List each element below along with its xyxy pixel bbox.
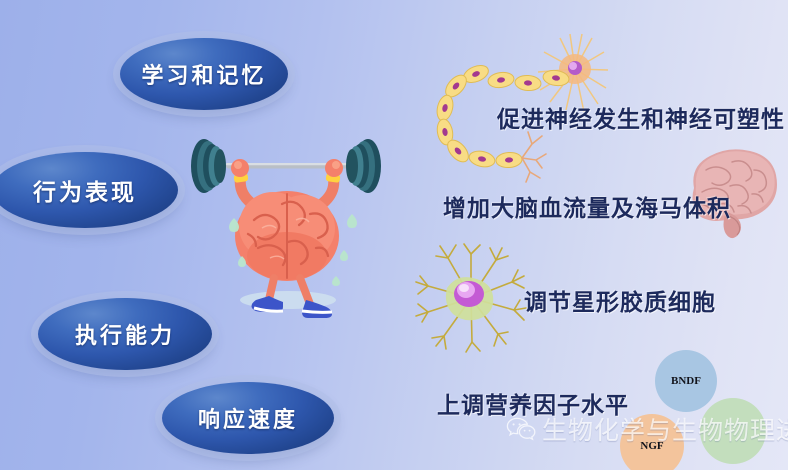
wechat-icon	[506, 416, 536, 442]
outcome-pill-learning-memory: 学习和记忆	[120, 38, 288, 110]
brain-lifting-barbell-illustration	[170, 128, 400, 318]
infographic-canvas: 学习和记忆 行为表现 执行能力 响应速度	[0, 0, 788, 470]
mechanism-caption-cerebral-blood-flow: 增加大脑血流量及海马体积	[443, 189, 731, 223]
outcome-pill-behavior-performance: 行为表现	[0, 152, 178, 228]
mechanism-caption-astrocyte-regulation: 调节星形胶质细胞	[524, 283, 716, 317]
outcome-pill-label: 行为表现	[33, 173, 137, 207]
outcome-pill-label: 执行能力	[75, 318, 175, 350]
outcome-pill-label: 响应速度	[198, 402, 298, 434]
wechat-watermark: 生物化学与生物物理进展	[506, 411, 788, 447]
watermark-text: 生物化学与生物物理进展	[542, 411, 788, 447]
outcome-pill-response-speed: 响应速度	[162, 382, 334, 454]
growth-factor-label: BNDF	[671, 375, 701, 387]
astrocyte-cell-illustration	[412, 242, 530, 354]
mechanism-caption-neurogenesis: 促进神经发生和神经可塑性	[497, 100, 785, 134]
growth-factor-circle-bndf: BNDF	[655, 350, 717, 412]
outcome-pill-label: 学习和记忆	[141, 58, 266, 90]
